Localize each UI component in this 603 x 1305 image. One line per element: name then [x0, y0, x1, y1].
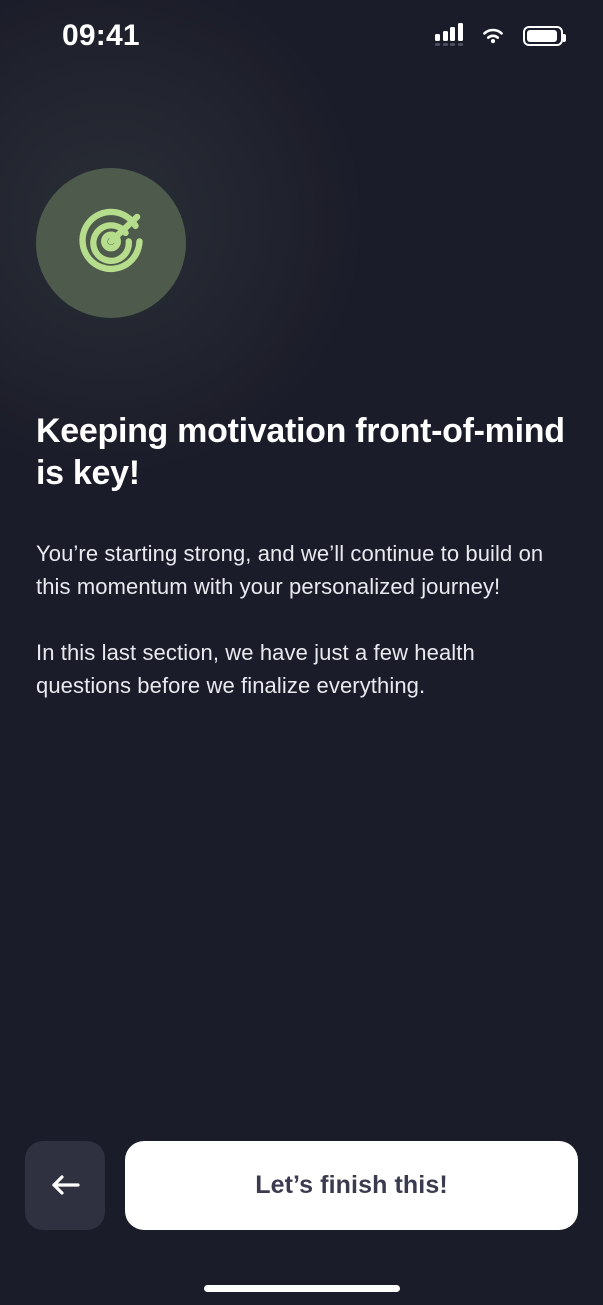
target-arrow-icon	[36, 168, 186, 318]
home-indicator[interactable]	[204, 1285, 400, 1292]
status-bar-clock: 09:41	[62, 19, 140, 53]
status-bar-icons	[435, 26, 563, 46]
status-bar: 09:41	[0, 0, 603, 72]
battery-full-icon	[523, 26, 563, 46]
bottom-action-bar: Let’s finish this!	[0, 1140, 603, 1230]
body-paragraph-2: In this last section, we have just a few…	[36, 636, 571, 702]
target-arrow-glyph	[73, 205, 149, 281]
wifi-icon	[480, 26, 506, 46]
content-block: Keeping motivation front-of-mind is key!…	[36, 410, 571, 702]
continue-button[interactable]: Let’s finish this!	[125, 1141, 578, 1230]
cellular-signal-icon	[435, 26, 463, 46]
arrow-left-icon	[48, 1172, 82, 1198]
app-screen: 09:41 Keeping	[0, 0, 603, 1305]
body-paragraph-1: You’re starting strong, and we’ll contin…	[36, 537, 571, 603]
page-title: Keeping motivation front-of-mind is key!	[36, 410, 571, 494]
back-button[interactable]	[25, 1141, 105, 1230]
